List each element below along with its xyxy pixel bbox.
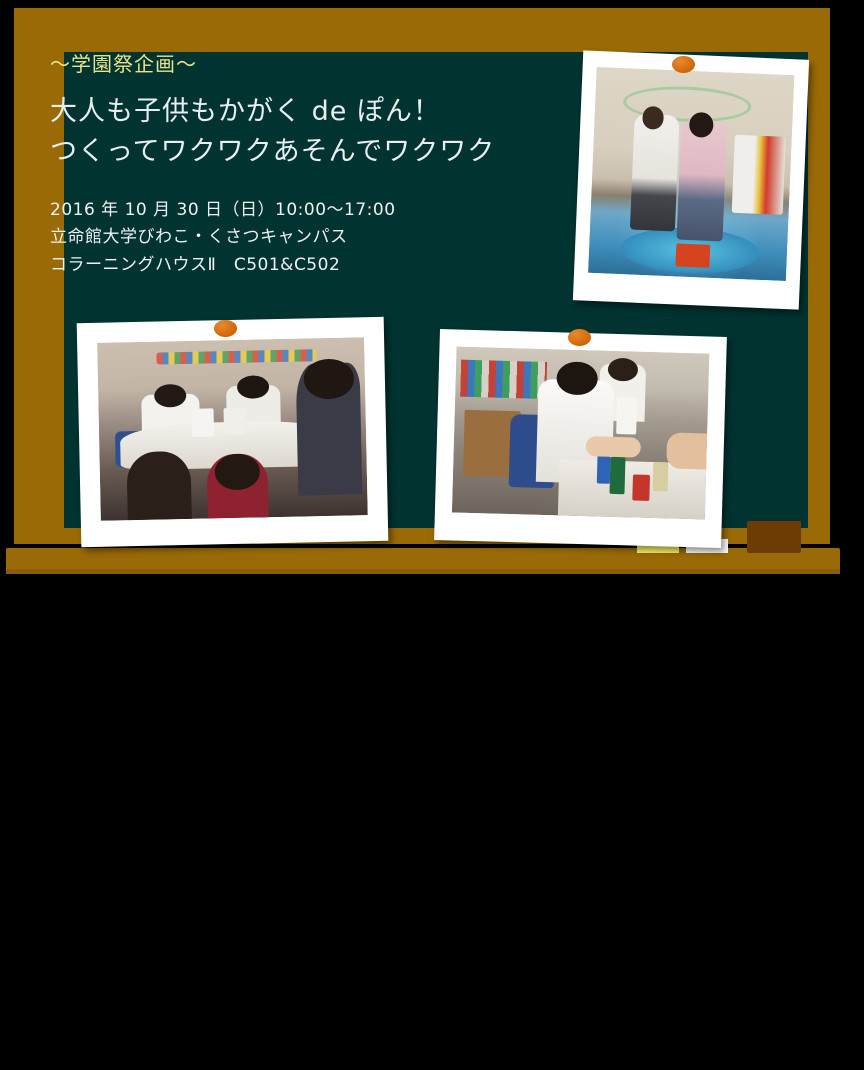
poster-info-block: 2016 年 10 月 30 日（日）10:00〜17:00 立命館大学びわこ・… xyxy=(50,197,550,280)
photo-pour xyxy=(452,347,710,520)
chalk-tray-shadow xyxy=(6,569,840,574)
staff-figure xyxy=(629,114,679,231)
paper-garland xyxy=(156,349,316,365)
photo-workshop-image xyxy=(97,337,368,521)
participant-hands xyxy=(666,432,707,470)
step-stool xyxy=(675,243,710,267)
event-venue-campus: 立命館大学びわこ・くさつキャンパス xyxy=(50,224,550,252)
reagent-bottle-red xyxy=(632,474,650,501)
paper-roll-1 xyxy=(192,408,214,437)
paper-roll xyxy=(616,397,637,434)
pin-icon xyxy=(568,329,591,346)
reaching-arm xyxy=(585,436,641,457)
photo-bubble-image xyxy=(588,67,794,281)
reagent-shelf xyxy=(460,360,547,399)
photo-pour-image xyxy=(452,347,710,520)
photo-frame-workshop xyxy=(77,317,389,547)
photo-bubble xyxy=(588,67,794,281)
pin-icon xyxy=(672,56,695,73)
stick-cup xyxy=(652,462,668,492)
child-figure xyxy=(677,120,727,241)
poster-canvas: 〜学園祭企画〜 大人も子供もかがく de ぽん！ つくってワクワクあそんでワクワ… xyxy=(0,0,864,590)
student-head-main xyxy=(556,361,597,395)
pin-icon xyxy=(214,320,237,337)
photo-frame-pour xyxy=(434,329,727,548)
event-datetime: 2016 年 10 月 30 日（日）10:00〜17:00 xyxy=(50,197,550,225)
clothes-rack xyxy=(731,135,786,215)
child-front-center-head xyxy=(214,453,260,490)
poster-title-line-1: 大人も子供もかがく de ぽん！ xyxy=(50,94,550,130)
child-front-left xyxy=(126,451,191,520)
blackboard-eraser xyxy=(747,521,801,553)
reagent-bottle-green xyxy=(609,457,625,494)
poster-title-line-2: つくってワクワクあそんでワクワク xyxy=(50,134,550,170)
student-head-center xyxy=(237,375,270,399)
poster-kicker: 〜学園祭企画〜 xyxy=(50,54,550,74)
paper-roll-2 xyxy=(224,407,246,434)
photo-frame-bubble xyxy=(573,50,809,309)
photo-workshop xyxy=(97,337,368,521)
event-venue-room: コラーニングハウスⅡ C501&C502 xyxy=(50,252,550,280)
poster-text-block: 〜学園祭企画〜 大人も子供もかがく de ぽん！ つくってワクワクあそんでワクワ… xyxy=(50,48,550,279)
